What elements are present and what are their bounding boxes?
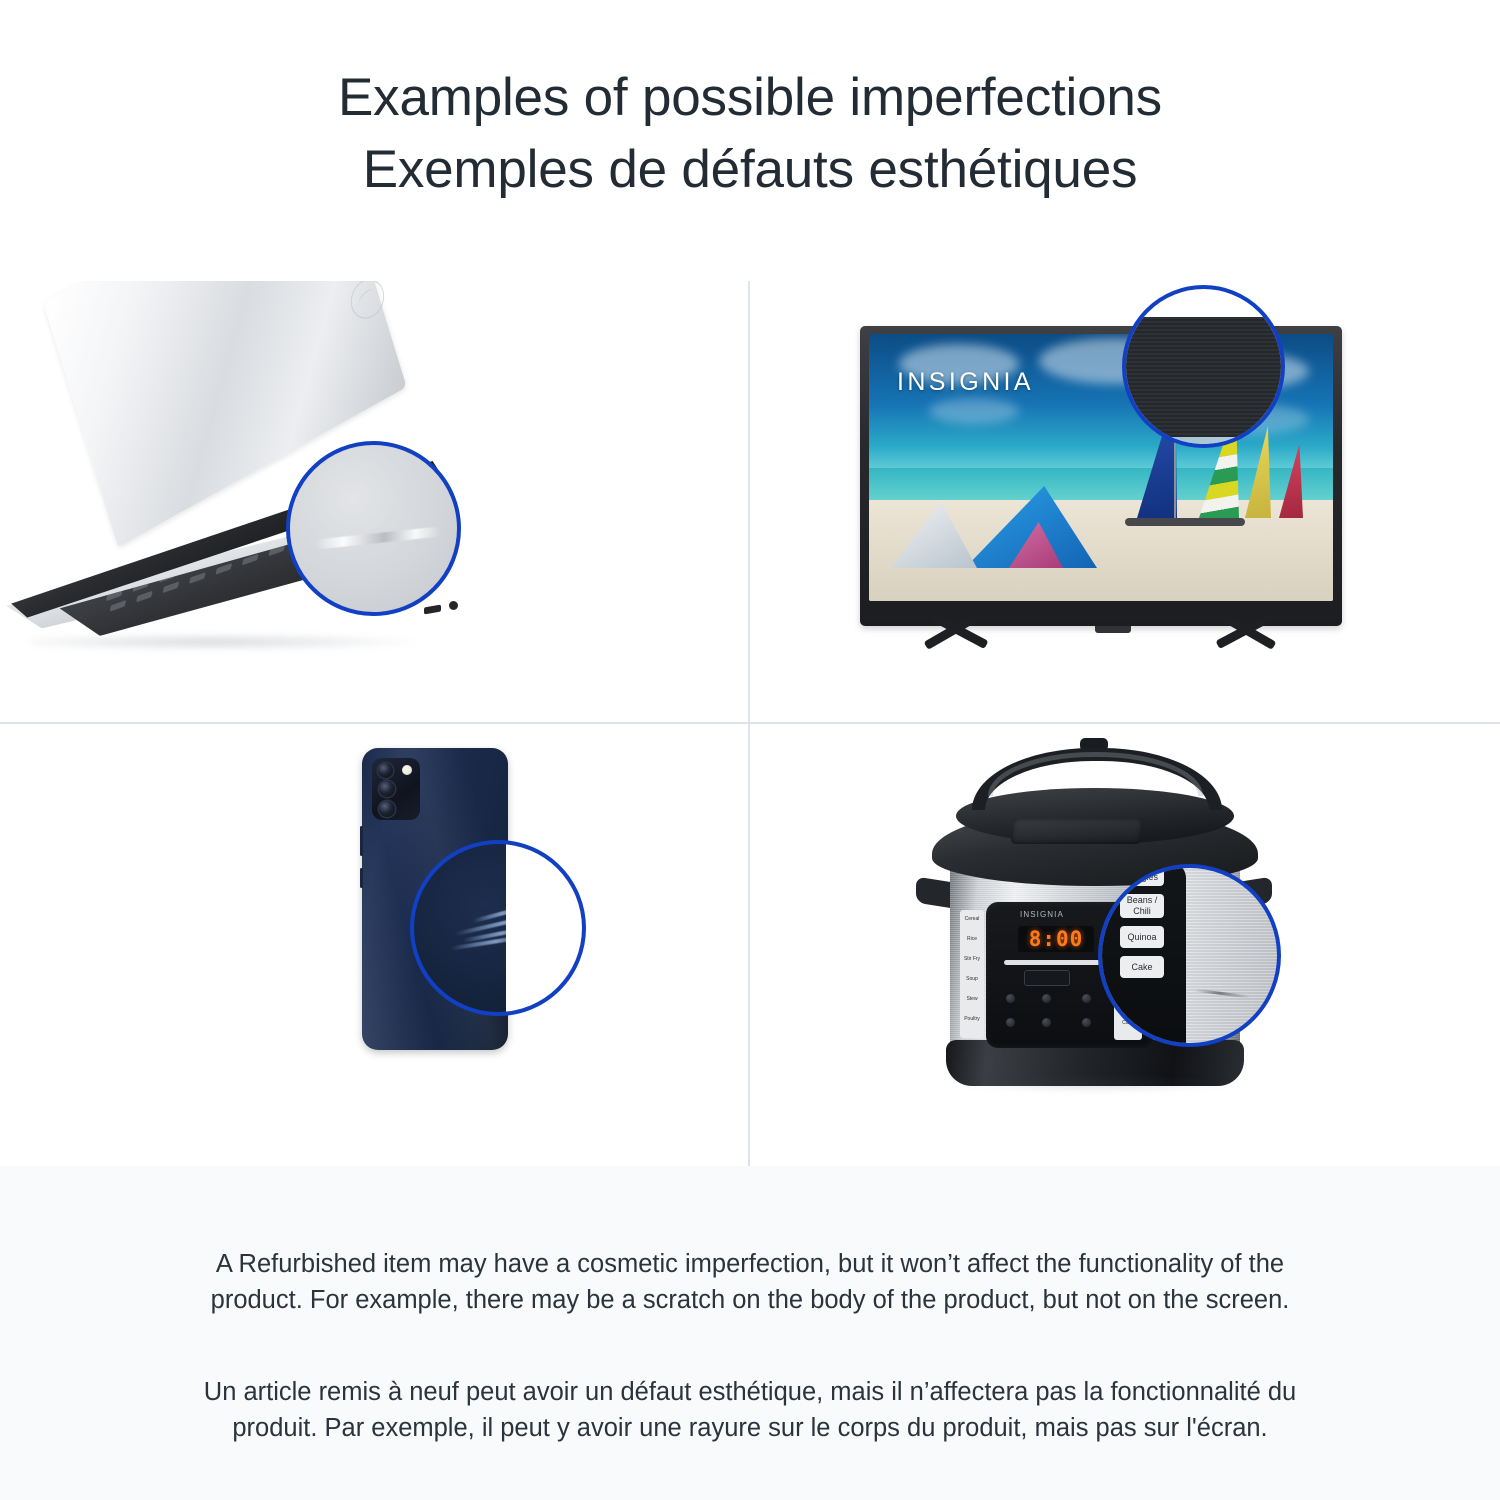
phone-camera-lens (379, 801, 395, 817)
cooker-preset-box[interactable] (1024, 970, 1070, 986)
laptop-shadow (30, 633, 430, 651)
cooker-button-keepwarm[interactable] (1042, 994, 1051, 1003)
cooker-brand-logo: INSIGNIA (1020, 910, 1064, 919)
laptop-key (136, 591, 153, 603)
panel-pressure-cooker: INSIGNIA 8:00 StartFishSteam VeggiesBean… (750, 724, 1500, 1166)
cooker-mag-button-cake[interactable]: Cake (1120, 956, 1164, 978)
footer-text-english: A Refurbished item may have a cosmetic i… (180, 1246, 1320, 1318)
tv-illustration: INSIGNIA (750, 281, 1500, 722)
phone-volume-button[interactable] (360, 826, 363, 856)
laptop-key (163, 582, 180, 594)
laptop-defect-magnifier (286, 441, 461, 616)
page-title: Examples of possible imperfections Exemp… (0, 62, 1500, 206)
phone-magnifier-background (506, 844, 586, 1016)
tv-boat-hull (1125, 518, 1245, 526)
phone-camera-lens (378, 763, 393, 778)
cooker-button-label[interactable]: Soup (960, 976, 984, 982)
laptop-brand-logo-icon (344, 281, 390, 327)
cooker-display-value: 8:00 (1029, 927, 1084, 951)
tv-ir-sensor (1095, 626, 1131, 633)
cooker-mag-button-quinoa[interactable]: Quinoa (1120, 926, 1164, 948)
title-french: Exemples de défauts esthétiques (0, 134, 1500, 206)
cooker-button-label[interactable]: Cereal (960, 916, 984, 922)
cooker-button-brown[interactable] (1006, 1018, 1015, 1027)
product-examples-grid: INSIGNIA (0, 281, 1500, 1166)
phone-camera-lens (379, 781, 395, 797)
footer-panel: A Refurbished item may have a cosmetic i… (0, 1166, 1500, 1500)
laptop-key (189, 572, 206, 584)
cooker-button-slowcook[interactable] (1042, 1018, 1051, 1027)
phone-flash-icon (402, 765, 412, 775)
tv-magnified-bezel-corner (1122, 317, 1285, 437)
cooker-display: 8:00 (1018, 926, 1094, 952)
cooker-lid-plate (1011, 818, 1144, 844)
cooker-shadow (960, 1076, 1235, 1092)
infographic-page: Examples of possible imperfections Exemp… (0, 0, 1500, 1500)
cooker-magnified-panel: Veggies Beans / Chili Quinoa Cake Delay … (1098, 864, 1186, 1047)
laptop-illustration (0, 281, 748, 722)
phone-defect-magnifier (410, 840, 586, 1016)
cooker-button-label[interactable]: Rice (960, 936, 984, 942)
laptop-key (110, 600, 127, 612)
panel-smartphone (0, 724, 748, 1166)
tv-screen-brand-logo: INSIGNIA (897, 368, 1034, 397)
footer-text-french: Un article remis à neuf peut avoir un dé… (180, 1374, 1320, 1446)
cooker-slider-strip[interactable] (1004, 960, 1100, 965)
panel-television: INSIGNIA (750, 281, 1500, 722)
laptop-key (216, 563, 233, 575)
cooker-button-manual[interactable] (1006, 994, 1015, 1003)
cooker-defect-magnifier: Veggies Beans / Chili Quinoa Cake Delay … (1098, 864, 1281, 1047)
cooker-left-button-column[interactable]: CerealRiceStir FrySoupStewPoultry (960, 910, 984, 1038)
tv-cloud (929, 398, 1019, 424)
cooker-button-label[interactable]: Stir Fry (960, 956, 984, 962)
cooker-button-ricecook[interactable] (1082, 1018, 1091, 1027)
panel-laptop (0, 281, 748, 722)
cooker-illustration: INSIGNIA 8:00 StartFishSteam VeggiesBean… (750, 724, 1500, 1166)
laptop-scratch (316, 527, 440, 550)
tv-defect-magnifier (1122, 285, 1285, 448)
cooker-mag-button-veggies[interactable]: Veggies (1120, 868, 1164, 886)
cooker-mag-button-beans-chili[interactable]: Beans / Chili (1120, 894, 1164, 918)
laptop-port-round (449, 601, 458, 610)
phone-illustration (0, 724, 748, 1166)
phone-power-button[interactable] (360, 868, 363, 888)
cooker-button-label[interactable]: Stew (960, 996, 984, 1002)
cooker-button-delay[interactable] (1082, 994, 1091, 1003)
laptop-port-usbc (424, 605, 441, 615)
phone-camera-module (372, 758, 420, 820)
title-english: Examples of possible imperfections (0, 62, 1500, 134)
cooker-button-label[interactable]: Poultry (960, 1016, 984, 1022)
